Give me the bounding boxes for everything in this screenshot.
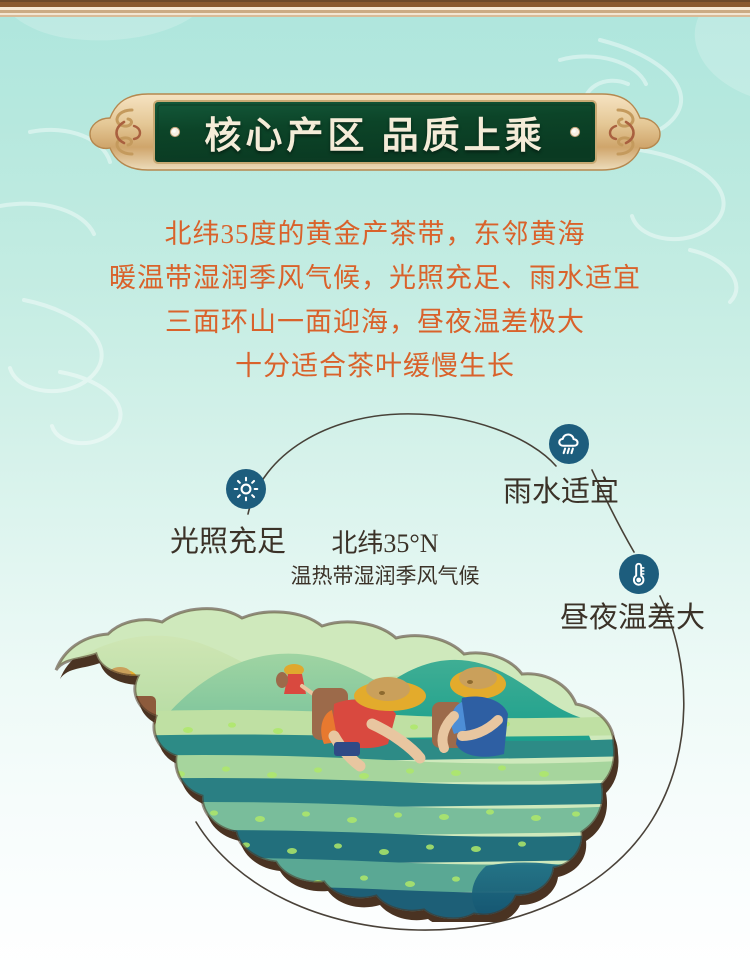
rain-cloud-icon: [556, 431, 582, 457]
top-decorative-border: [0, 0, 750, 17]
feature-label-sunlight: 光照充足: [170, 518, 286, 560]
intro-line-4: 十分适合茶叶缓慢生长: [0, 344, 750, 388]
center-latitude-label: 北纬35°N: [331, 523, 438, 560]
thermometer-icon: [626, 561, 652, 587]
rain-cloud-icon-badge: [549, 424, 589, 464]
center-climate-label: 温热带湿润季风气候: [291, 560, 480, 590]
feature-label-temp-range: 昼夜温差大: [560, 594, 705, 636]
sun-icon: [233, 476, 259, 502]
sun-icon-badge: [226, 469, 266, 509]
intro-line-1: 北纬35度的黄金产茶带，东邻黄海: [0, 212, 750, 256]
intro-line-3: 三面环山一面迎海，昼夜温差极大: [0, 300, 750, 344]
feature-label-rainfall: 雨水适宜: [503, 468, 619, 510]
tea-region-map-illustration: [16, 592, 734, 922]
intro-paragraph: 北纬35度的黄金产茶带，东邻黄海 暖温带湿润季风气候，光照充足、雨水适宜 三面环…: [0, 212, 750, 388]
intro-line-2: 暖温带湿润季风气候，光照充足、雨水适宜: [0, 256, 750, 300]
title-banner: 核心产区 品质上乘: [88, 88, 662, 176]
infographic-page: 核心产区 品质上乘 北纬35度的黄金产茶带，东邻黄海 暖温带湿润季风气候，光照充…: [0, 0, 750, 980]
banner-title: 核心产区 品质上乘: [88, 88, 662, 176]
thermometer-icon-badge: [619, 554, 659, 594]
